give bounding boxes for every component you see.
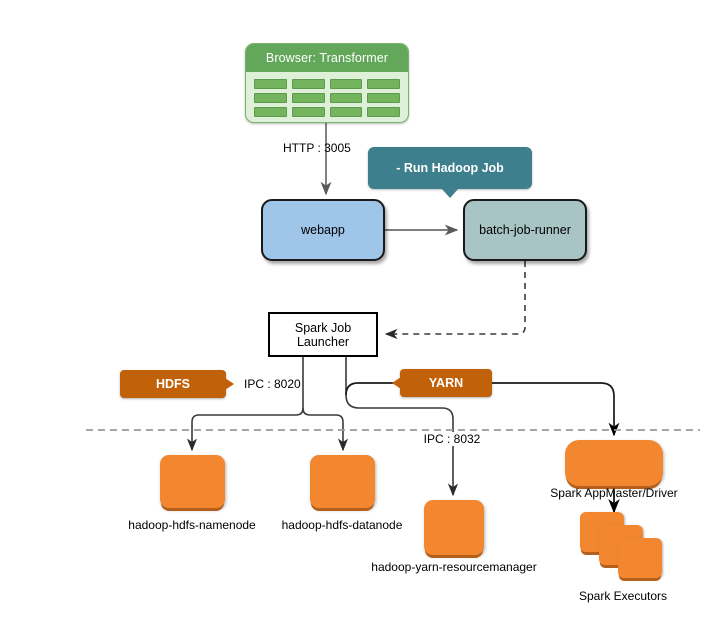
grid-cell <box>292 107 325 117</box>
http-port-label: HTTP : 3005 <box>283 141 351 155</box>
hdfs-ipc-port-label: IPC : 8020 <box>244 377 301 391</box>
hadoop-hdfs-datanode-label: hadoop-hdfs-datanode <box>282 518 403 532</box>
browser-content-grid <box>246 72 408 123</box>
spark-job-launcher-label-line2: Launcher <box>297 335 349 349</box>
yarn-banner: YARN <box>400 369 492 397</box>
grid-cell <box>367 107 400 117</box>
spark-executor-box[interactable] <box>618 538 662 578</box>
hdfs-banner: HDFS <box>120 370 226 398</box>
hadoop-yarn-resourcemanager-label: hadoop-yarn-resourcemanager <box>371 560 536 574</box>
spark-job-launcher-node[interactable]: Spark Job Launcher <box>268 312 378 357</box>
batch-job-runner-node[interactable]: batch-job-runner <box>463 199 587 261</box>
grid-cell <box>330 79 363 89</box>
grid-cell <box>254 107 287 117</box>
spark-appmaster-driver-label: Spark AppMaster/Driver <box>550 486 677 500</box>
grid-cell <box>330 107 363 117</box>
grid-cell <box>292 79 325 89</box>
webapp-node[interactable]: webapp <box>261 199 385 261</box>
spark-executors-label: Spark Executors <box>579 589 667 603</box>
grid-cell <box>367 79 400 89</box>
browser-title: Browser: Transformer <box>246 44 408 72</box>
run-hadoop-job-callout: - Run Hadoop Job <box>368 147 532 189</box>
grid-cell <box>330 93 363 103</box>
connector-launcher-to-datanode <box>303 408 343 450</box>
yarn-ipc-port-label: IPC : 8032 <box>421 432 484 446</box>
hadoop-yarn-resourcemanager-node[interactable] <box>424 500 484 555</box>
grid-cell <box>367 93 400 103</box>
hadoop-hdfs-namenode-label: hadoop-hdfs-namenode <box>128 518 255 532</box>
hadoop-hdfs-datanode-node[interactable] <box>310 455 375 508</box>
hadoop-hdfs-namenode-node[interactable] <box>160 455 225 508</box>
connector-batch-job-runner-to-launcher <box>386 261 525 334</box>
grid-cell <box>254 93 287 103</box>
grid-cell <box>254 79 287 89</box>
spark-appmaster-driver-node[interactable] <box>565 440 663 486</box>
spark-executors-stack[interactable] <box>580 512 666 584</box>
connector-launcher-to-namenode <box>192 408 303 450</box>
browser-window[interactable]: Browser: Transformer <box>245 43 409 123</box>
grid-cell <box>292 93 325 103</box>
spark-job-launcher-label-line1: Spark Job <box>295 321 351 335</box>
